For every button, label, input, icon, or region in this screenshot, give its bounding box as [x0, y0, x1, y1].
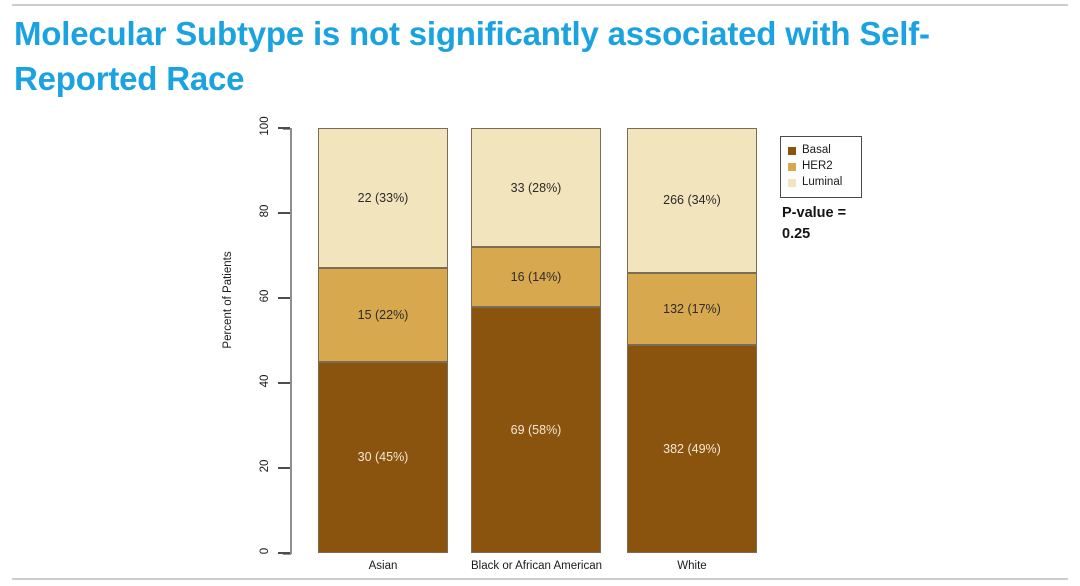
bar-segment-basal: 382 (49%): [627, 345, 757, 553]
x-axis-label-black-or-african-american: Black or African American: [471, 560, 601, 572]
y-tick-100: [278, 127, 290, 129]
pvalue-label: P-value =: [782, 203, 892, 224]
legend-label: Luminal: [802, 177, 842, 189]
y-tick-40: [278, 382, 290, 384]
bar-white: 382 (49%)132 (17%)266 (34%): [627, 128, 757, 553]
legend-swatch-icon-luminal: [788, 179, 796, 187]
bar-segment-her2: 16 (14%): [471, 247, 601, 307]
bar-segment-basal: 69 (58%): [471, 307, 601, 554]
y-tick-label-20: 20: [259, 449, 271, 483]
x-axis-label-white: White: [627, 560, 757, 572]
legend-item-luminal: Luminal: [788, 175, 855, 191]
bar-asian: 30 (45%)15 (22%)22 (33%): [318, 128, 448, 553]
legend-label: Basal: [802, 145, 831, 157]
legend-item-basal: Basal: [788, 143, 855, 159]
bar-segment-luminal: 22 (33%): [318, 128, 448, 268]
legend-item-her2: HER2: [788, 159, 855, 175]
y-tick-label-0: 0: [259, 534, 271, 568]
y-tick-20: [278, 467, 290, 469]
chart-legend: BasalHER2Luminal: [780, 136, 862, 198]
pvalue-value: 0.25: [782, 224, 892, 245]
y-tick-60: [278, 297, 290, 299]
y-tick-label-100: 100: [259, 109, 271, 143]
y-tick-0: [278, 552, 290, 554]
bar-segment-her2: 132 (17%): [627, 273, 757, 345]
bar-segment-luminal: 33 (28%): [471, 128, 601, 247]
y-tick-label-40: 40: [259, 364, 271, 398]
y-tick-80: [278, 212, 290, 214]
bar-segment-basal: 30 (45%): [318, 362, 448, 553]
bar-segment-luminal: 266 (34%): [627, 128, 757, 273]
y-axis-line: [290, 128, 292, 554]
x-axis-label-asian: Asian: [318, 560, 448, 572]
slide-canvas: Molecular Subtype is not significantly a…: [0, 0, 1080, 586]
pvalue-annotation: P-value = 0.25: [782, 203, 892, 245]
legend-label: HER2: [802, 161, 833, 173]
bar-segment-her2: 15 (22%): [318, 268, 448, 362]
stacked-bar-chart: Percent of Patients 020406080100 30 (45%…: [0, 0, 1080, 586]
bar-black-or-african-american: 69 (58%)16 (14%)33 (28%): [471, 128, 601, 553]
y-tick-label-80: 80: [259, 194, 271, 228]
legend-swatch-icon-basal: [788, 147, 796, 155]
y-tick-label-60: 60: [259, 279, 271, 313]
y-axis-title: Percent of Patients: [222, 251, 234, 348]
legend-swatch-icon-her2: [788, 163, 796, 171]
